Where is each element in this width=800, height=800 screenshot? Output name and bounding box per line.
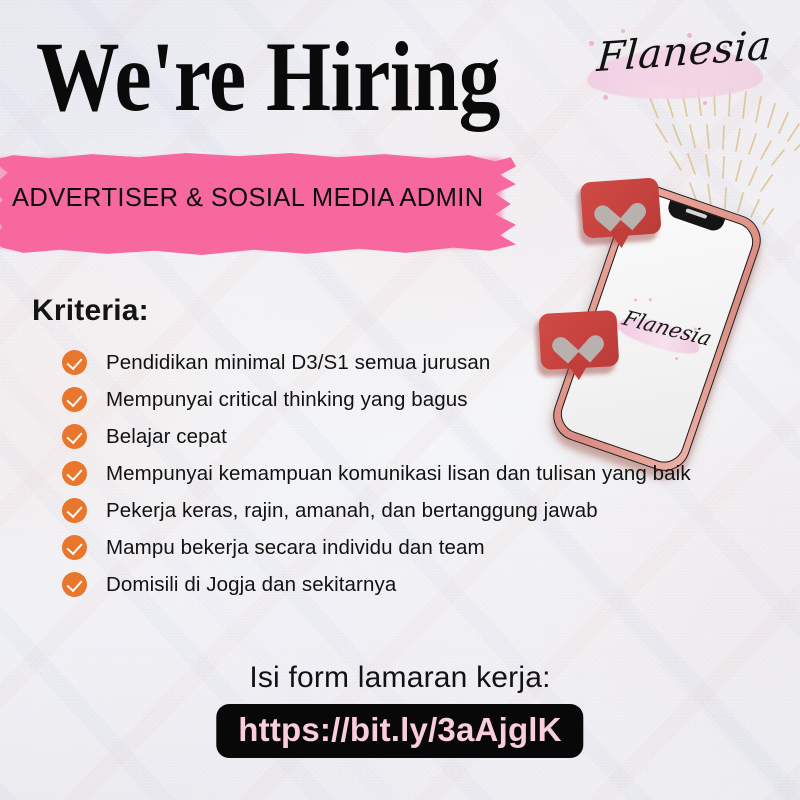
brand-dot: [589, 41, 594, 46]
application-link-url[interactable]: https://bit.ly/3aAjglK: [238, 711, 561, 748]
list-item: Mampu bekerja secara individu dan team: [62, 529, 782, 566]
list-item: Pekerja keras, rajin, amanah, dan bertan…: [62, 492, 782, 529]
criteria-label: Domisili di Jogja dan sekitarnya: [106, 573, 396, 597]
criteria-label: Mempunyai critical thinking yang bagus: [106, 388, 468, 412]
check-circle-icon: [62, 387, 87, 412]
call-to-action-text: Isi form lamaran kerja:: [0, 661, 800, 695]
hiring-poster: We're Hiring: [0, 0, 800, 800]
list-item: Mempunyai critical thinking yang bagus: [62, 381, 782, 418]
list-item: Belajar cepat: [62, 418, 782, 455]
heart-icon: [603, 192, 637, 223]
check-circle-icon: [62, 535, 87, 560]
criteria-label: Mempunyai kemampuan komunikasi lisan dan…: [106, 462, 691, 486]
list-item: Mempunyai kemampuan komunikasi lisan dan…: [62, 455, 782, 492]
phone-screen-dot: [634, 298, 638, 302]
application-link-button[interactable]: https://bit.ly/3aAjglK: [216, 704, 583, 758]
criteria-heading: Kriteria:: [32, 294, 149, 328]
job-title: ADVERTISER & SOSIAL MEDIA ADMIN: [12, 184, 484, 213]
job-title-banner: ADVERTISER & SOSIAL MEDIA ADMIN: [0, 152, 516, 256]
phone-screen-dot: [649, 298, 652, 301]
check-circle-icon: [62, 350, 87, 375]
phone-speaker: [686, 208, 708, 218]
criteria-list: Pendidikan minimal D3/S1 semua jurusan M…: [62, 344, 782, 603]
check-circle-icon: [62, 572, 87, 597]
list-item: Domisili di Jogja dan sekitarnya: [62, 566, 782, 603]
check-circle-icon: [62, 461, 87, 486]
heart-notification-bubble-top: [580, 177, 662, 244]
criteria-label: Belajar cepat: [106, 425, 227, 449]
check-circle-icon: [62, 498, 87, 523]
criteria-label: Pendidikan minimal D3/S1 semua jurusan: [106, 351, 490, 375]
list-item: Pendidikan minimal D3/S1 semua jurusan: [62, 344, 782, 381]
check-circle-icon: [62, 424, 87, 449]
criteria-label: Mampu bekerja secara individu dan team: [106, 536, 485, 560]
criteria-label: Pekerja keras, rajin, amanah, dan bertan…: [106, 499, 598, 523]
brand-dot: [703, 101, 707, 105]
phone-notch: [665, 198, 725, 233]
page-title: We're Hiring: [36, 27, 500, 127]
brand-dot: [603, 95, 608, 100]
brand-logo: Flanesia: [583, 25, 783, 113]
